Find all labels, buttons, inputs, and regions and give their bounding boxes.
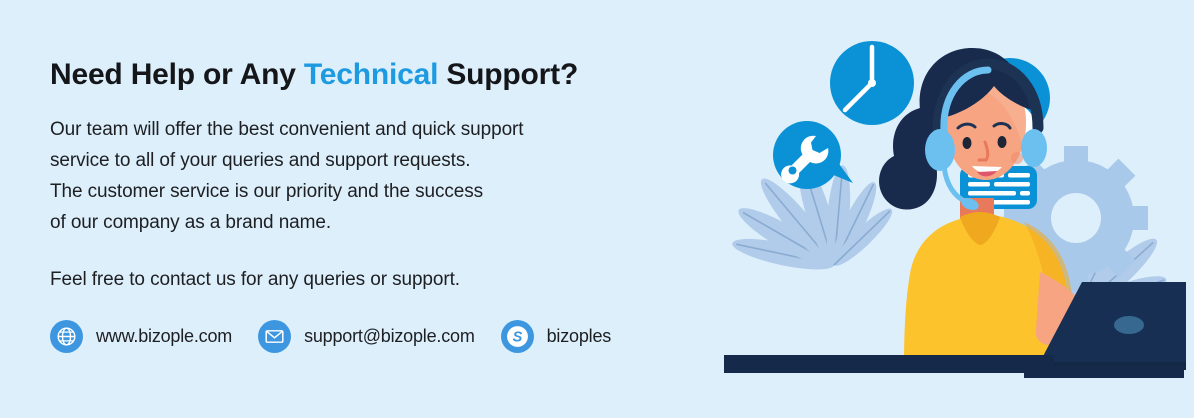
cta-text: Feel free to contact us for any queries … [50, 264, 740, 295]
website-label: www.bizople.com [96, 326, 232, 347]
body-line-2: service to all of your queries and suppo… [50, 145, 740, 176]
skype-label: bizoples [547, 326, 611, 347]
page-title: Need Help or Any Technical Support? [50, 58, 740, 92]
illustration [724, 0, 1194, 418]
body-line-3: The customer service is our priority and… [50, 176, 740, 207]
headline-part-2: Support? [438, 58, 578, 91]
envelope-icon [258, 320, 291, 353]
contact-email[interactable]: support@bizople.com [258, 320, 475, 353]
contact-website[interactable]: www.bizople.com [50, 320, 232, 353]
support-banner: Need Help or Any Technical Support? Our … [0, 0, 1194, 418]
headline-accent: Technical [304, 58, 438, 91]
svg-text:S: S [512, 330, 522, 346]
contact-skype[interactable]: S bizoples [501, 320, 611, 353]
body-line-1: Our team will offer the best convenient … [50, 114, 740, 145]
clock-icon [830, 41, 914, 125]
body-paragraph: Our team will offer the best convenient … [50, 114, 740, 238]
text-content: Need Help or Any Technical Support? Our … [50, 58, 740, 295]
body-line-4: of our company as a brand name. [50, 207, 740, 238]
headline-part-1: Need Help or Any [50, 58, 304, 91]
contact-row: www.bizople.com support@bizople.com S bi… [50, 320, 611, 353]
globe-icon [50, 320, 83, 353]
email-label: support@bizople.com [304, 326, 475, 347]
skype-icon: S [501, 320, 534, 353]
